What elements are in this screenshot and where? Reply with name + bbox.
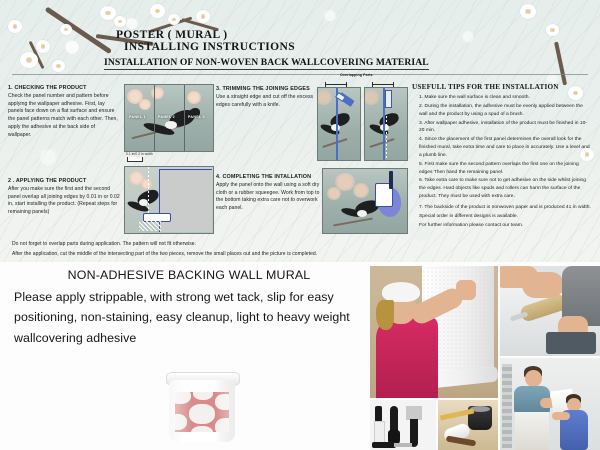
diagram-trimming-left (317, 87, 361, 161)
tool-handle (375, 406, 382, 422)
overlap-label: Overlapping Parts (340, 73, 373, 77)
tip-item: 5. First make sure the second pattern ov… (412, 161, 592, 177)
tip-item: 6. Take extra care to make sure not to g… (412, 177, 592, 200)
tip-item: 2. During the installation, the adhesive… (412, 103, 592, 119)
photo-wallpaper-tools (370, 400, 436, 450)
diagram-completing-installation (322, 168, 408, 234)
man-trousers (515, 412, 549, 450)
overlap-arrow-left (325, 84, 347, 85)
tips-panel: USEFULL TIPS FOR THE INSTALLATION 1. Mak… (412, 83, 592, 231)
panel-label-1: PANEL 1 (129, 115, 146, 119)
mural-bird (320, 110, 356, 144)
page-subtitle-main: INSTALLING INSTRUCTIONS (124, 41, 295, 53)
adhesive-bucket (166, 372, 238, 444)
mural-blossom (317, 90, 332, 105)
blossom-decoration (100, 6, 116, 20)
step-4-body: Apply the panel onto the wall using a so… (216, 182, 322, 213)
step-2-body: After you make sure the first and the se… (8, 186, 120, 217)
tip-item: 3. After wallpaper adhesive, installatio… (412, 120, 592, 136)
mural-bird (143, 107, 199, 141)
blossom-decoration (150, 4, 165, 18)
blossom-decoration (168, 14, 180, 25)
photo-hands-with-roller (500, 266, 600, 356)
mural-blossom (187, 91, 201, 104)
photo-woman-hanging-wallpaper (370, 266, 498, 398)
mural-blossom (353, 183, 369, 198)
promo-body: Please apply strippable, with strong wet… (14, 287, 364, 348)
bucket-highlight (169, 380, 235, 442)
tip-item: 4. Since the placement of the first pane… (412, 136, 592, 159)
adhesive-hatching (139, 221, 161, 231)
blossom-decoration (8, 20, 22, 33)
panel-seam (184, 85, 185, 151)
branch-decoration (554, 42, 567, 86)
child-arm (552, 412, 570, 420)
bird-belly (165, 121, 177, 129)
woman-hair (376, 300, 394, 330)
step-3-body: Use a straight edge and cut off the exce… (216, 94, 320, 109)
handle-stroke (389, 171, 393, 189)
tool-head (394, 443, 412, 447)
footnote-2: After the application, cut the middle of… (12, 250, 317, 258)
tip-item: 1. Make sure the wall surface is clean a… (412, 94, 592, 102)
mural-blossom (327, 187, 341, 200)
step-1-body: Check the panel number and pattern befor… (8, 93, 118, 139)
step-1-heading: 1. CHECKING THE PRODUCT (8, 85, 118, 91)
knife-blade (385, 90, 392, 108)
tool-head (406, 406, 422, 420)
step-3: 3. TRIMMING THE JOINING EDGES Use a stra… (216, 86, 320, 109)
blossom-decoration (546, 24, 559, 36)
header-divider (12, 74, 588, 75)
mural-blossom (151, 87, 164, 99)
page-title: POSTER ( MURAL ) (116, 29, 228, 41)
mural-bird (369, 110, 405, 144)
diagram-applying-panel (124, 166, 214, 234)
bird-belly (139, 199, 148, 206)
blossom-decoration (36, 40, 50, 53)
blossom-decoration (52, 60, 65, 72)
overlap-arrow-right (372, 84, 394, 85)
panel-seam (154, 85, 155, 151)
tips-list: 1. Make sure the wall surface is clean a… (412, 94, 592, 229)
photo-man-and-child-wallpapering (500, 358, 600, 450)
step-4-heading: 4. COMPLETING THE INTALLATION (216, 174, 322, 180)
tips-heading: USEFULL TIPS FOR THE INSTALLATION (412, 83, 592, 91)
instruction-sheet-page: POSTER ( MURAL ) INSTALLING INSTRUCTIONS… (0, 0, 600, 450)
arm-upper (500, 266, 538, 288)
tips-closing-line: For further information please contact o… (412, 222, 592, 230)
tool-knife (372, 440, 412, 449)
step-4: 4. COMPLETING THE INTALLATION Apply the … (216, 174, 322, 213)
blossom-decoration (114, 16, 126, 27)
page-subtitle: INSTALLATION OF NON-WOVEN BACK WALLCOVER… (104, 57, 429, 70)
step-3-heading: 3. TRIMMING THE JOINING EDGES (216, 86, 320, 92)
step-2: 2 . APPLYING THE PRODUCT After you make … (8, 178, 120, 217)
bird-belly (357, 210, 367, 217)
woman-hand (456, 280, 476, 300)
step-1: 1. CHECKING THE PRODUCT Check the panel … (8, 85, 118, 139)
diagram-three-panels: PANEL 1 PANEL 2 PANEL 3 (124, 84, 214, 152)
cut-line-guide (386, 116, 387, 160)
mural-blossom (364, 90, 379, 105)
tool-tray (546, 332, 596, 354)
tip-item: 7. The backside of the product is nonwov… (412, 204, 592, 212)
blossom-decoration (20, 52, 38, 68)
diagram-trimming-right (364, 87, 408, 161)
tool-handle (372, 442, 396, 448)
panel-label-2: PANEL 2 (158, 115, 175, 119)
alignment-guide (148, 167, 149, 219)
man-head (525, 370, 542, 387)
wall-surface (159, 169, 212, 232)
tips-closing-line: Special order in different designs is av… (412, 213, 592, 221)
footnote-1: Do not forget to overlap parts during ap… (12, 240, 196, 248)
blossom-decoration (60, 24, 72, 35)
measurement-bar (127, 157, 143, 162)
blossom-decoration (520, 4, 536, 19)
ladder (502, 364, 512, 448)
measurement-label: 0.1 in/0.2 in width (126, 152, 153, 156)
step-2-heading: 2 . APPLYING THE PRODUCT (8, 178, 120, 184)
photo-tools-and-paste-bucket (438, 400, 498, 450)
promo-heading: NON-ADHESIVE BACKING WALL MURAL (14, 268, 364, 282)
panel-label-3: PANEL 3 (188, 115, 205, 119)
promo-block: NON-ADHESIVE BACKING WALL MURAL Please a… (14, 268, 364, 348)
blossom-decoration (196, 10, 210, 23)
woman-cap (382, 282, 420, 302)
